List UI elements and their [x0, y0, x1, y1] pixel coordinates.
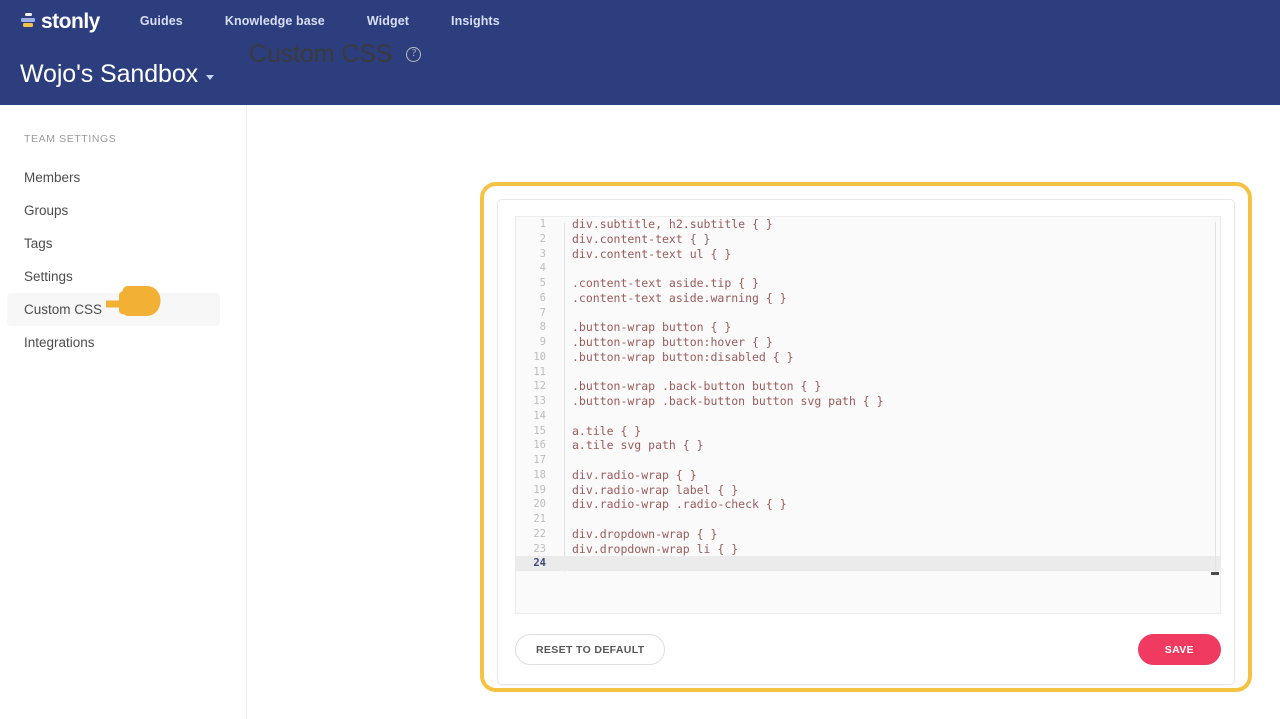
line-number: 11	[516, 365, 560, 380]
card-actions: RESET TO DEFAULT SAVE	[515, 634, 1221, 667]
line-number: 7	[516, 306, 560, 321]
page-title: Custom CSS	[249, 40, 392, 69]
code-line[interactable]: 2div.content-text { }	[516, 232, 1221, 247]
code-line[interactable]: 12.button-wrap .back-button button { }	[516, 379, 1221, 394]
sidebar-item-label: Members	[24, 170, 80, 185]
line-number: 13	[516, 394, 560, 409]
sidebar-item-settings[interactable]: Settings	[0, 260, 247, 293]
line-number: 14	[516, 409, 560, 424]
stonly-logo-icon	[20, 13, 36, 29]
code-line[interactable]: 14	[516, 409, 1221, 424]
code-line[interactable]: 7	[516, 306, 1221, 321]
code-line[interactable]: 21	[516, 512, 1221, 527]
page-header: Custom CSS ?	[249, 40, 421, 69]
code-text: .button-wrap .back-button button { }	[560, 379, 821, 394]
code-text: div.dropdown-wrap { }	[560, 527, 717, 542]
line-number: 3	[516, 247, 560, 262]
sidebar-item-groups[interactable]: Groups	[0, 194, 247, 227]
code-line[interactable]: 9.button-wrap button:hover { }	[516, 335, 1221, 350]
code-line[interactable]: 1div.subtitle, h2.subtitle { }	[516, 217, 1221, 232]
code-text: div.dropdown-wrap li { }	[560, 542, 738, 557]
code-text: .button-wrap .back-button button svg pat…	[560, 394, 884, 409]
settings-sidebar: TEAM SETTINGS Members Groups Tags Settin…	[0, 105, 247, 719]
nav-item-knowledge-base[interactable]: Knowledge base	[204, 14, 346, 28]
line-number: 18	[516, 468, 560, 483]
chevron-down-icon	[206, 75, 214, 80]
line-number: 21	[516, 512, 560, 527]
code-line[interactable]: 23div.dropdown-wrap li { }	[516, 542, 1221, 557]
code-line[interactable]: 8.button-wrap button { }	[516, 320, 1221, 335]
code-text: div.radio-wrap .radio-check { }	[560, 497, 787, 512]
line-number: 12	[516, 379, 560, 394]
code-text: a.tile { }	[560, 424, 641, 439]
line-number: 24	[516, 556, 560, 571]
line-number: 10	[516, 350, 560, 365]
code-line[interactable]: 16a.tile svg path { }	[516, 438, 1221, 453]
css-code-editor[interactable]: 1div.subtitle, h2.subtitle { }2div.conte…	[515, 216, 1221, 614]
code-line[interactable]: 13.button-wrap .back-button button svg p…	[516, 394, 1221, 409]
nav-item-insights[interactable]: Insights	[430, 14, 521, 28]
scrollbar-thumb[interactable]	[1211, 572, 1219, 575]
sidebar-item-members[interactable]: Members	[0, 161, 247, 194]
code-text: div.radio-wrap label { }	[560, 483, 738, 498]
code-text: div.content-text { }	[560, 232, 710, 247]
code-text: div.radio-wrap { }	[560, 468, 697, 483]
line-number: 6	[516, 291, 560, 306]
line-number: 15	[516, 424, 560, 439]
code-line[interactable]: 17	[516, 453, 1221, 468]
code-text: .button-wrap button { }	[560, 320, 731, 335]
code-line[interactable]: 5.content-text aside.tip { }	[516, 276, 1221, 291]
code-line[interactable]: 20div.radio-wrap .radio-check { }	[516, 497, 1221, 512]
code-line[interactable]: 10.button-wrap button:disabled { }	[516, 350, 1221, 365]
sidebar-item-label: Groups	[24, 203, 68, 218]
nav-item-widget[interactable]: Widget	[346, 14, 430, 28]
nav-row: stonly Guides Knowledge base Widget Insi…	[20, 8, 521, 34]
sidebar-item-label: Settings	[24, 269, 73, 284]
workspace-switcher[interactable]: Wojo's Sandbox	[20, 60, 214, 89]
sidebar-heading: TEAM SETTINGS	[24, 133, 116, 145]
save-button[interactable]: SAVE	[1138, 634, 1221, 665]
code-text: .content-text aside.tip { }	[560, 276, 759, 291]
code-line[interactable]: 24	[516, 556, 1221, 571]
question-mark-circle-icon[interactable]: ?	[406, 47, 421, 62]
code-text: .button-wrap button:disabled { }	[560, 350, 794, 365]
scrollbar-track-line	[1215, 222, 1216, 572]
brand-name: stonly	[41, 11, 100, 32]
brand-logo[interactable]: stonly	[20, 11, 100, 32]
workspace-name: Wojo's Sandbox	[20, 60, 198, 89]
code-line[interactable]: 22div.dropdown-wrap { }	[516, 527, 1221, 542]
reset-to-default-button[interactable]: RESET TO DEFAULT	[515, 634, 665, 665]
line-number: 20	[516, 497, 560, 512]
line-number: 4	[516, 261, 560, 276]
code-line[interactable]: 6.content-text aside.warning { }	[516, 291, 1221, 306]
code-text: div.subtitle, h2.subtitle { }	[560, 217, 773, 232]
sidebar-list: Members Groups Tags Settings Custom CSS …	[0, 161, 247, 359]
code-text: .button-wrap button:hover { }	[560, 335, 773, 350]
code-text: div.content-text ul { }	[560, 247, 731, 262]
code-text: a.tile svg path { }	[560, 438, 704, 453]
top-navigation-bar: stonly Guides Knowledge base Widget Insi…	[0, 0, 1280, 105]
code-area[interactable]: 1div.subtitle, h2.subtitle { }2div.conte…	[516, 217, 1221, 614]
code-text: .content-text aside.warning { }	[560, 291, 787, 306]
line-number: 1	[516, 217, 560, 232]
code-line[interactable]: 15a.tile { }	[516, 424, 1221, 439]
code-line[interactable]: 19div.radio-wrap label { }	[516, 483, 1221, 498]
code-line[interactable]: 4	[516, 261, 1221, 276]
sidebar-item-label: Tags	[24, 236, 53, 251]
code-line[interactable]: 11	[516, 365, 1221, 380]
sidebar-item-label: Custom CSS	[24, 302, 102, 317]
primary-nav: Guides Knowledge base Widget Insights	[140, 14, 521, 28]
line-number: 8	[516, 320, 560, 335]
code-line[interactable]: 18div.radio-wrap { }	[516, 468, 1221, 483]
line-number: 19	[516, 483, 560, 498]
line-number: 23	[516, 542, 560, 557]
sidebar-item-custom-css[interactable]: Custom CSS	[7, 293, 220, 326]
sidebar-item-tags[interactable]: Tags	[0, 227, 247, 260]
line-number: 9	[516, 335, 560, 350]
nav-item-guides[interactable]: Guides	[140, 14, 204, 28]
sidebar-item-label: Integrations	[24, 335, 95, 350]
code-line[interactable]: 3div.content-text ul { }	[516, 247, 1221, 262]
sidebar-item-integrations[interactable]: Integrations	[0, 326, 247, 359]
line-number: 16	[516, 438, 560, 453]
line-number: 5	[516, 276, 560, 291]
line-number: 22	[516, 527, 560, 542]
line-number: 2	[516, 232, 560, 247]
custom-css-card: 1div.subtitle, h2.subtitle { }2div.conte…	[497, 199, 1235, 685]
line-number: 17	[516, 453, 560, 468]
